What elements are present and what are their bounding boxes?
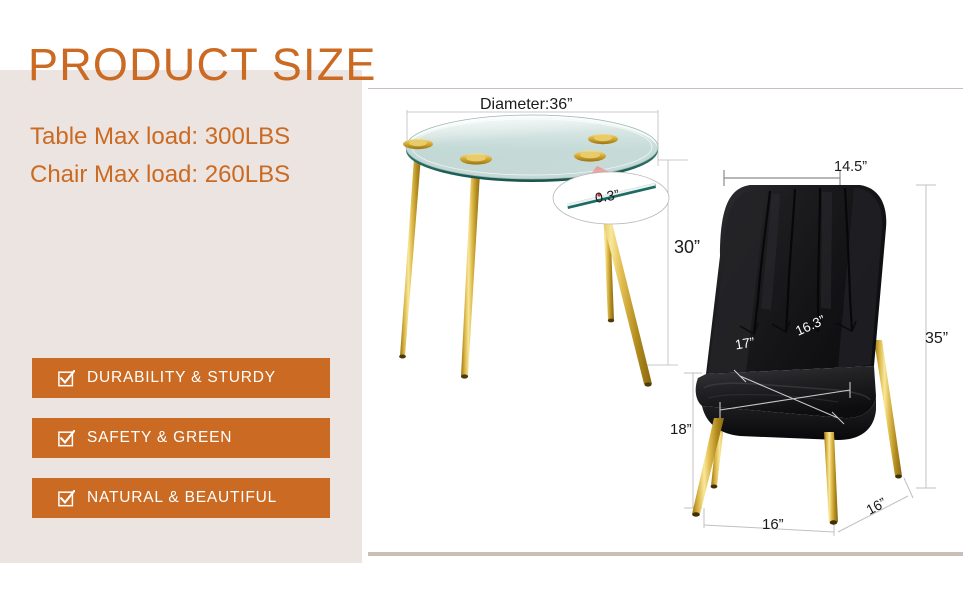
page-title: PRODUCT SIZE	[28, 39, 377, 91]
product-dimension-diagrams	[368, 88, 970, 560]
chair-back-width-label: 14.5”	[834, 159, 867, 175]
feature-item-label: NATURAL & BEAUTIFUL	[87, 489, 277, 507]
feature-item-label: DURABILITY & STURDY	[87, 369, 276, 387]
table-height-label: 30”	[674, 237, 700, 258]
feature-item-label: SAFETY & GREEN	[87, 429, 232, 447]
chair-seat-width-label: 17”	[734, 335, 756, 353]
table-max-load-text: Table Max load: 300LBS	[30, 118, 290, 156]
chair-seat-height-label: 18”	[670, 421, 692, 438]
feature-item-safety[interactable]: SAFETY & GREEN	[32, 418, 330, 458]
feature-item-natural[interactable]: NATURAL & BEAUTIFUL	[32, 478, 330, 518]
feature-item-durability[interactable]: DURABILITY & STURDY	[32, 358, 330, 398]
load-spec-list: Table Max load: 300LBS Chair Max load: 2…	[30, 118, 290, 194]
infographic-canvas: PRODUCT SIZE Table Max load: 300LBS Chai…	[0, 0, 970, 600]
feature-list: DURABILITY & STURDY SAFETY & GREEN NATUR…	[32, 358, 330, 538]
checkbox-icon	[58, 370, 75, 387]
chair-total-height-label: 35”	[925, 330, 948, 348]
table-diameter-label: Diameter:36”	[480, 96, 572, 114]
chair-base-width-label: 16”	[762, 516, 784, 533]
chair-seat	[696, 366, 876, 440]
chair-backrest	[706, 185, 886, 374]
chair-max-load-text: Chair Max load: 260LBS	[30, 156, 290, 194]
checkbox-icon	[58, 490, 75, 507]
checkbox-icon	[58, 430, 75, 447]
